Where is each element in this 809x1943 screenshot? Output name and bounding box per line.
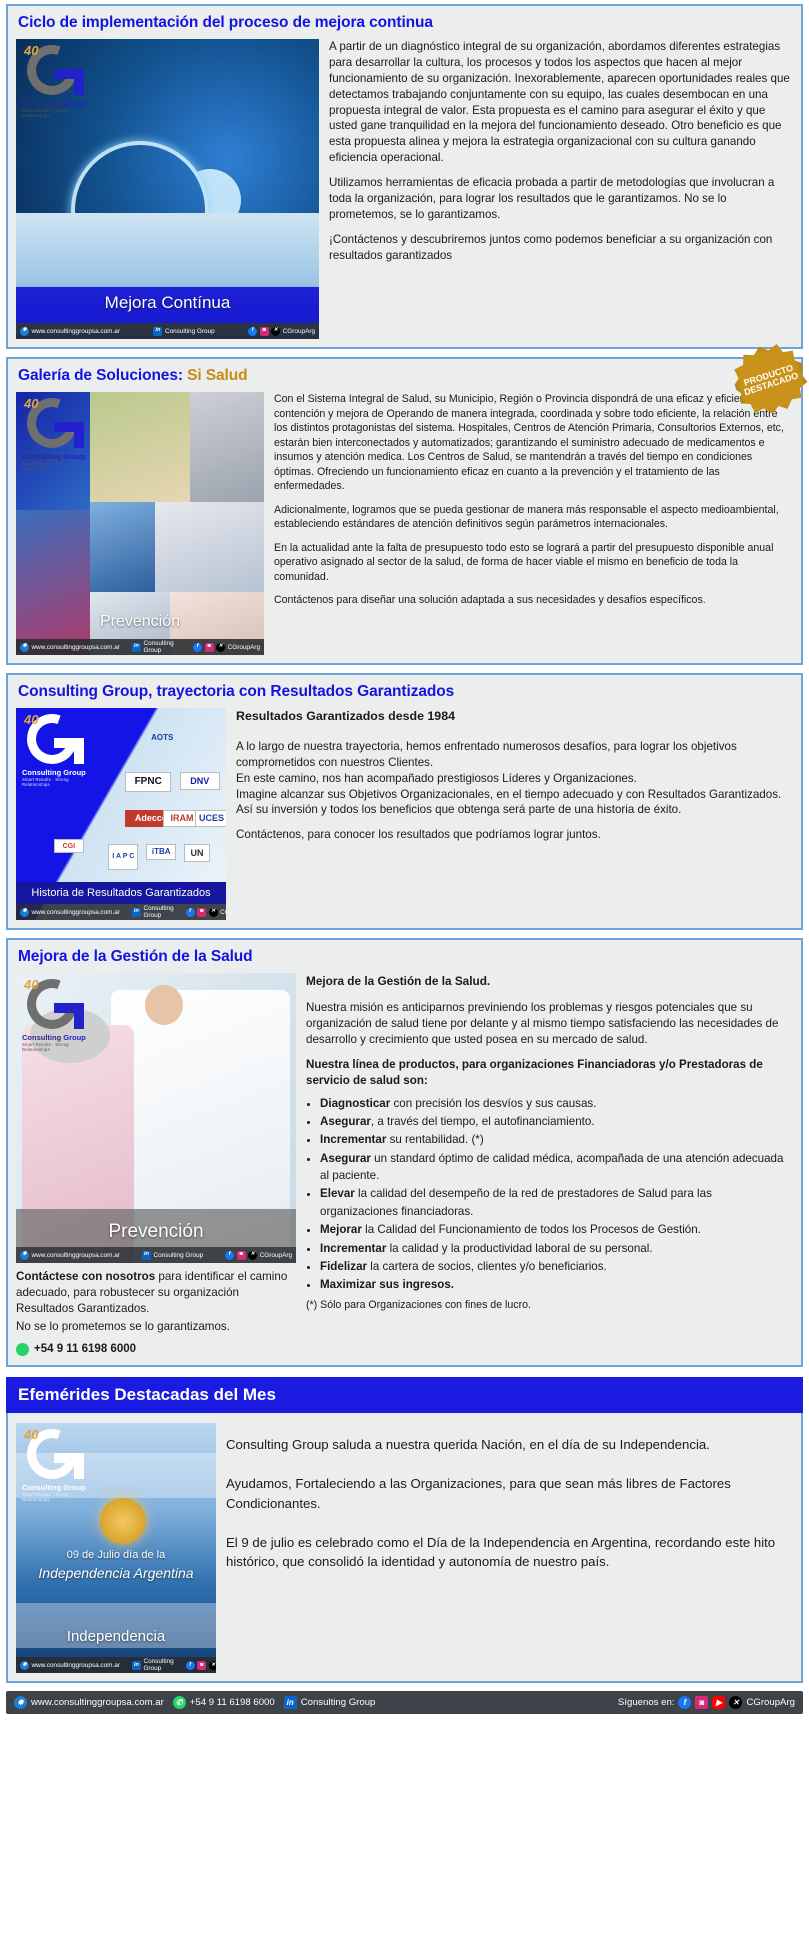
award-un: UN — [184, 844, 210, 862]
globe-icon[interactable]: ✸ — [20, 327, 29, 336]
image-mejora-continua: 40 Consulting Group Smart Results · Stro… — [16, 39, 319, 339]
image-gestion-salud: 40 Consulting Group Smart Results · Stro… — [16, 973, 296, 1263]
social-website[interactable]: www.consultinggroupsa.com.ar — [32, 1662, 120, 1669]
award-iapc: I A P C — [108, 844, 138, 870]
social-website[interactable]: www.consultinggroupsa.com.ar — [32, 909, 120, 916]
bullet-rest: su rentabilidad. (*) — [386, 1133, 483, 1146]
award-cgi: CGI — [54, 839, 84, 853]
paragraph-intro: Nuestra misión es anticiparnos previnien… — [306, 1000, 793, 1048]
paragraph: Contáctenos para diseñar una solución ad… — [274, 593, 793, 608]
paragraph: A partir de un diagnóstico integral de s… — [329, 39, 793, 166]
bullet-strong: Incrementar — [320, 1133, 386, 1146]
section-title: Mejora de la Gestión de la Salud — [18, 948, 793, 966]
whatsapp-icon[interactable] — [16, 1343, 29, 1356]
social-handle[interactable]: CGroupArg — [283, 328, 315, 335]
social-handle[interactable]: CGroupArg — [228, 644, 260, 651]
list-item: Mejorar la Calidad del Funcionamiento de… — [320, 1221, 793, 1238]
paragraph: A lo largo de nuestra trayectoria, hemos… — [236, 739, 793, 771]
logo-years: 40 — [24, 1427, 38, 1442]
whatsapp-contact[interactable]: +54 9 11 6198 6000 — [16, 1342, 296, 1358]
paragraph: ¡Contáctenos y descubriremos juntos como… — [329, 232, 793, 264]
footer-linkedin[interactable]: in Consulting Group — [284, 1696, 376, 1709]
bullet-rest: la Calidad del Funcionamiento de todos l… — [362, 1223, 701, 1236]
instagram-icon[interactable]: ◙ — [260, 327, 269, 336]
image-social-bar: ✸www.consultinggroupsa.com.ar inConsulti… — [16, 904, 226, 920]
linkedin-icon[interactable]: in — [132, 643, 141, 652]
x-twitter-icon[interactable]: ✕ — [248, 1251, 257, 1260]
logo-name-2: Group — [63, 768, 86, 777]
contact-block: Contáctese con nosotros para identificar… — [16, 1269, 296, 1357]
product-list: Diagnosticar con precisión los desvíos y… — [320, 1095, 793, 1294]
award-aots: AOTS — [146, 729, 178, 745]
text-efemerides: Consulting Group saluda a nuestra querid… — [226, 1423, 793, 1571]
social-linkedin[interactable]: Consulting Group — [165, 328, 215, 335]
globe-icon[interactable]: ✸ — [20, 908, 29, 917]
bullet-rest: un standard óptimo de calidad médica, ac… — [320, 1152, 783, 1182]
logo-consulting-group: 40 Consulting Group Smart Results · Stro… — [22, 714, 96, 787]
section-trayectoria: Consulting Group, trayectoria con Result… — [6, 673, 803, 930]
section-title: Galería de Soluciones: Si Salud — [18, 367, 793, 385]
section-mejora-continua: Ciclo de implementación del proceso de m… — [6, 4, 803, 349]
globe-icon[interactable]: ✸ — [20, 1661, 29, 1670]
image-trayectoria: FPNC Adecco DNV IRAM UCES AOTS I A P C i… — [16, 708, 226, 920]
logo-tagline: Smart Results · Strong Relationships — [22, 108, 96, 118]
globe-icon[interactable]: ✸ — [20, 1251, 29, 1260]
x-twitter-icon[interactable]: ✕ — [209, 908, 218, 917]
list-item: Fidelizar la cartera de socios, clientes… — [320, 1258, 793, 1275]
globe-icon[interactable]: ✸ — [14, 1696, 27, 1709]
instagram-icon[interactable]: ◙ — [237, 1251, 246, 1260]
social-handle[interactable]: CGroupArg — [220, 909, 226, 916]
instagram-icon[interactable]: ◙ — [197, 908, 206, 917]
logo-tagline: Smart Results · Strong Relationships — [22, 461, 96, 471]
section-subtitle: Resultados Garantizados desde 1984 — [236, 708, 793, 725]
bullet-strong: Elevar — [320, 1187, 355, 1200]
contact-strong: Contáctese con nosotros — [16, 1270, 155, 1283]
social-linkedin[interactable]: Consulting Group — [153, 1252, 203, 1259]
social-website[interactable]: www.consultinggroupsa.com.ar — [32, 328, 120, 335]
logo-tagline: Smart Results · Strong Relationships — [22, 1042, 96, 1052]
logo-years: 40 — [24, 43, 38, 58]
page-title: Ciclo de implementación del proceso de m… — [18, 14, 793, 32]
bullet-rest: la calidad y la productividad laboral de… — [386, 1242, 652, 1255]
text-trayectoria: Resultados Garantizados desde 1984 A lo … — [236, 708, 793, 843]
logo-name-2: Group — [63, 1483, 86, 1492]
linkedin-icon[interactable]: in — [142, 1251, 151, 1260]
logo-years: 40 — [24, 977, 38, 992]
footer-handle[interactable]: CGroupArg — [746, 1697, 795, 1708]
x-twitter-icon[interactable]: ✕ — [729, 1696, 742, 1709]
contact-line-2: No se lo prometemos se lo garantizamos. — [16, 1319, 296, 1335]
section-subtitle: Mejora de la Gestión de la Salud. — [306, 973, 793, 989]
image-social-bar: ✸www.consultinggroupsa.com.ar inConsulti… — [16, 639, 264, 655]
text-galeria: Con el Sistema Integral de Salud, su Mun… — [274, 392, 793, 608]
section-efemerides: 40 Consulting Group Smart Results · Stro… — [6, 1413, 803, 1683]
youtube-icon[interactable]: ▶ — [712, 1696, 725, 1709]
page-footer: ✸ www.consultinggroupsa.com.ar ✆ +54 9 1… — [6, 1691, 803, 1714]
list-item: Elevar la calidad del desempeño de la re… — [320, 1185, 793, 1220]
bullet-strong: Maximizar sus ingresos. — [320, 1278, 454, 1291]
paragraph: Con el Sistema Integral de Salud, su Mun… — [274, 392, 793, 494]
instagram-icon[interactable]: ◙ — [205, 643, 214, 652]
whatsapp-icon[interactable]: ✆ — [173, 1696, 186, 1709]
list-item: Asegurar, a través del tiempo, el autofi… — [320, 1113, 793, 1130]
paragraph: Consulting Group saluda a nuestra querid… — [226, 1435, 793, 1454]
whatsapp-number[interactable]: +54 9 11 6198 6000 — [34, 1342, 136, 1358]
paragraph: El 9 de julio es celebrado como el Día d… — [226, 1533, 793, 1571]
logo-name-2: Group — [63, 452, 86, 461]
image-caption: Independencia — [16, 1628, 216, 1645]
social-linkedin[interactable]: Consulting Group — [143, 1658, 173, 1672]
bullet-strong: Mejorar — [320, 1223, 362, 1236]
logo-tagline: Smart Results · Strong Relationships — [22, 1492, 96, 1502]
bullet-strong: Asegurar — [320, 1115, 371, 1128]
paragraph: En la actualidad ante la falta de presup… — [274, 541, 793, 585]
logo-years: 40 — [24, 396, 38, 411]
image-social-bar: ✸www.consultinggroupsa.com.ar inConsulti… — [16, 1247, 296, 1263]
image-caption: Prevención — [16, 1221, 296, 1243]
image-caption: Mejora Contínua — [16, 293, 319, 313]
image-overlay-line-1: 09 de Julio día de la — [16, 1549, 216, 1561]
linkedin-icon[interactable]: in — [284, 1696, 297, 1709]
section-gestion-salud: Mejora de la Gestión de la Salud 40 Cons… — [6, 938, 803, 1367]
logo-name-1: Consulting — [22, 1033, 63, 1042]
newsletter-page: Ciclo de implementación del proceso de m… — [0, 4, 809, 1714]
social-linkedin[interactable]: Consulting Group — [143, 905, 173, 919]
image-efemerides: 40 Consulting Group Smart Results · Stro… — [16, 1423, 216, 1673]
footer-follow: Síguenos en: f ◙ ▶ ✕ CGroupArg — [618, 1696, 795, 1709]
award-dnv: DNV — [180, 772, 220, 790]
footer-phone[interactable]: ✆ +54 9 11 6198 6000 — [173, 1696, 275, 1709]
paragraph: Utilizamos herramientas de eficacia prob… — [329, 175, 793, 223]
image-overlay-line-2: Independencia Argentina — [16, 1565, 216, 1581]
section-title-accent: Si Salud — [187, 367, 247, 384]
linkedin-icon[interactable]: in — [132, 908, 141, 917]
list-item: Diagnosticar con precisión los desvíos y… — [320, 1095, 793, 1112]
footnote: (*) Sólo para Organizaciones con fines d… — [306, 1298, 793, 1313]
list-item: Asegurar un standard óptimo de calidad m… — [320, 1150, 793, 1185]
x-twitter-icon[interactable]: ✕ — [216, 643, 225, 652]
image-caption: Prevención — [16, 613, 264, 631]
section-galeria-soluciones: PRODUCTO DESTACADO Galería de Soluciones… — [6, 357, 803, 665]
bullet-strong: Asegurar — [320, 1152, 371, 1165]
award-uces: UCES — [195, 810, 227, 827]
award-itba: iTBA — [146, 844, 176, 860]
logo-tagline: Smart Results · Strong Relationships — [22, 777, 96, 787]
logo-consulting-group: 40 Consulting Group Smart Results · Stro… — [22, 45, 96, 118]
list-item: Incrementar la calidad y la productivida… — [320, 1240, 793, 1257]
linkedin-icon[interactable]: in — [153, 327, 162, 336]
bullet-strong: Diagnosticar — [320, 1097, 390, 1110]
globe-icon[interactable]: ✸ — [20, 643, 29, 652]
list-heading: Nuestra línea de productos, para organiz… — [306, 1057, 793, 1089]
logo-consulting-group: 40 Consulting Group Smart Results · Stro… — [22, 398, 96, 471]
image-social-bar: ✸www.consultinggroupsa.com.ar inConsulti… — [16, 323, 319, 339]
facebook-icon[interactable]: f — [186, 1661, 195, 1670]
award-fpnc: FPNC — [125, 772, 171, 792]
logo-name-1: Consulting — [22, 452, 63, 461]
paragraph: Imagine alcanzar sus Objetivos Organizac… — [236, 787, 793, 819]
instagram-icon[interactable]: ◙ — [197, 1661, 206, 1670]
bullet-rest: con precisión los desvíos y sus causas. — [390, 1097, 596, 1110]
paragraph: Adicionalmente, logramos que se pueda ge… — [274, 503, 793, 532]
x-twitter-icon[interactable]: ✕ — [271, 327, 280, 336]
bullet-strong: Incrementar — [320, 1242, 386, 1255]
logo-name-1: Consulting — [22, 99, 63, 108]
image-galeria: 40 Consulting Group Smart Results · Stro… — [16, 392, 264, 655]
facebook-icon[interactable]: f — [248, 327, 257, 336]
section-title: Consulting Group, trayectoria con Result… — [18, 683, 793, 701]
logo-name-1: Consulting — [22, 1483, 63, 1492]
footer-website-label[interactable]: www.consultinggroupsa.com.ar — [31, 1697, 164, 1708]
image-social-bar: ✸www.consultinggroupsa.com.ar inConsulti… — [16, 1657, 216, 1673]
social-website[interactable]: www.consultinggroupsa.com.ar — [32, 644, 120, 651]
footer-phone-label[interactable]: +54 9 11 6198 6000 — [190, 1697, 275, 1708]
facebook-icon[interactable]: f — [193, 643, 202, 652]
paragraph: Contáctenos, para conocer los resultados… — [236, 827, 793, 843]
facebook-icon[interactable]: f — [225, 1251, 234, 1260]
bullet-rest: , a través del tiempo, el autofinanciami… — [371, 1115, 595, 1128]
logo-name-2: Group — [63, 99, 86, 108]
text-mejora-continua: A partir de un diagnóstico integral de s… — [329, 39, 793, 263]
bullet-rest: la cartera de socios, clientes y/o benef… — [367, 1260, 607, 1273]
section-title-main: Galería de Soluciones: — [18, 367, 183, 384]
logo-consulting-group: 40 Consulting Group Smart Results · Stro… — [22, 1429, 96, 1502]
paragraph: En este camino, nos han acompañado prest… — [236, 771, 793, 787]
x-twitter-icon[interactable]: ✕ — [209, 1661, 216, 1670]
social-handle[interactable]: CGroupArg — [260, 1252, 292, 1259]
linkedin-icon[interactable]: in — [132, 1661, 141, 1670]
social-linkedin[interactable]: Consulting Group — [143, 640, 181, 654]
facebook-icon[interactable]: f — [678, 1696, 691, 1709]
bullet-strong: Fidelizar — [320, 1260, 367, 1273]
text-gestion-salud: Mejora de la Gestión de la Salud. Nuestr… — [306, 973, 793, 1312]
logo-name-1: Consulting — [22, 768, 63, 777]
footer-website[interactable]: ✸ www.consultinggroupsa.com.ar — [14, 1696, 164, 1709]
logo-years: 40 — [24, 712, 38, 727]
list-item: Incrementar su rentabilidad. (*) — [320, 1131, 793, 1148]
list-item: Maximizar sus ingresos. — [320, 1276, 793, 1293]
logo-name-2: Group — [63, 1033, 86, 1042]
facebook-icon[interactable]: f — [186, 908, 195, 917]
image-caption: Historia de Resultados Garantizados — [16, 882, 226, 904]
banner-efemerides: Efemérides Destacadas del Mes — [6, 1377, 803, 1413]
bullet-rest: la calidad del desempeño de la red de pr… — [320, 1187, 712, 1217]
logo-consulting-group: 40 Consulting Group Smart Results · Stro… — [22, 979, 96, 1052]
social-website[interactable]: www.consultinggroupsa.com.ar — [32, 1252, 120, 1259]
footer-linkedin-label[interactable]: Consulting Group — [301, 1697, 376, 1708]
instagram-icon[interactable]: ◙ — [695, 1696, 708, 1709]
footer-follow-label: Síguenos en: — [618, 1697, 675, 1708]
paragraph: Ayudamos, Fortaleciendo a las Organizaci… — [226, 1474, 793, 1512]
